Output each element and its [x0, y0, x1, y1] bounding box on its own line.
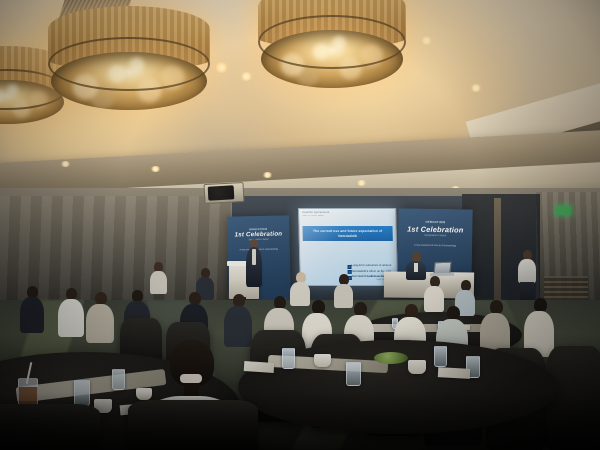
- audience-member: [86, 292, 114, 342]
- exit-sign-icon: [556, 206, 571, 215]
- projector-lens-icon: [208, 185, 235, 200]
- centerpiece: [374, 352, 408, 364]
- water-glass: [346, 362, 361, 386]
- downlight-icon: [356, 180, 367, 186]
- banner-right-main: 1st Celebration: [407, 224, 464, 234]
- downlight-icon: [420, 36, 433, 45]
- downlight-icon: [262, 172, 273, 178]
- downlight-icon: [150, 166, 161, 172]
- conference-hall-photo: Satellite Symposium June 11, 2024 | Seou…: [0, 0, 600, 450]
- napkin: [438, 367, 470, 379]
- banner-right-body: A new standard of care in rheumatology: [404, 244, 466, 249]
- pendant-light-mid: [48, 6, 210, 110]
- water-glass: [112, 369, 125, 390]
- pendant-light-right: [258, 0, 406, 88]
- audience-member: [424, 276, 444, 310]
- audience-member: [224, 294, 252, 346]
- coffee-cup: [408, 360, 426, 374]
- napkin: [244, 361, 275, 373]
- audience-member: [150, 262, 167, 292]
- audience-member: [58, 288, 84, 336]
- standing-attendant: [518, 250, 536, 304]
- banner-left-main: 1st Celebration: [235, 231, 283, 239]
- audience-member: [20, 286, 44, 332]
- downlight-icon: [60, 161, 71, 167]
- coffee-cup: [314, 354, 331, 367]
- water-glass: [282, 348, 295, 369]
- downlight-icon: [470, 84, 482, 92]
- podium-speaker: [246, 239, 262, 301]
- downlight-icon: [240, 72, 253, 81]
- water-glass: [434, 346, 447, 367]
- downlight-icon: [214, 62, 229, 73]
- head-table-presenter: [406, 252, 426, 278]
- floor-shadow: [0, 392, 600, 450]
